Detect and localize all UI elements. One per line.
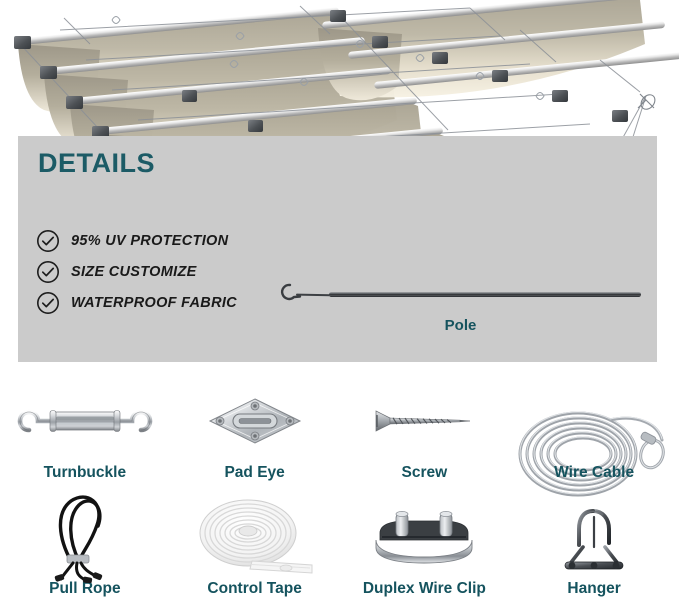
cable-tensioner xyxy=(638,92,658,112)
pole-icon xyxy=(273,276,648,310)
part-label: Wire Cable xyxy=(554,459,634,481)
pole-label: Pole xyxy=(273,317,648,334)
part-label: Screw xyxy=(402,459,448,481)
feature-item-waterproof-fabric: WATERPROOF FABRIC xyxy=(36,291,237,315)
pull-rope-icon xyxy=(0,499,170,575)
check-circle-icon xyxy=(36,260,60,284)
part-item-pull-rope: Pull Rope xyxy=(0,484,170,596)
infographic-page: DETAILS 95% UV PROTECTION SIZE CUSTOMIZE xyxy=(0,0,679,611)
part-item-pad-eye: Pad Eye xyxy=(170,368,340,480)
parts-row-bottom: Pull Rope xyxy=(0,484,679,596)
check-circle-icon xyxy=(36,291,60,315)
feature-label: SIZE CUSTOMIZE xyxy=(71,264,197,280)
part-label: Pad Eye xyxy=(224,459,284,481)
page-title: DETAILS xyxy=(38,148,155,179)
parts-row-top: Turnbuckle xyxy=(0,368,679,480)
screw-icon xyxy=(340,383,510,459)
part-label: Turnbuckle xyxy=(44,459,126,481)
turnbuckle-icon xyxy=(0,383,170,459)
details-panel: DETAILS 95% UV PROTECTION SIZE CUSTOMIZE xyxy=(18,136,657,362)
part-item-turnbuckle: Turnbuckle xyxy=(0,368,170,480)
pad-eye-icon xyxy=(170,383,340,459)
parts-grid: Turnbuckle xyxy=(0,368,679,611)
feature-item-uv-protection: 95% UV PROTECTION xyxy=(36,229,228,253)
control-tape-roll-icon xyxy=(170,499,340,575)
wire-cable-coil-icon xyxy=(509,407,679,497)
part-label: Duplex Wire Clip xyxy=(363,575,486,597)
part-item-hanger: Hanger xyxy=(509,484,679,596)
check-circle-icon xyxy=(36,229,60,253)
duplex-wire-clip-icon xyxy=(340,499,510,575)
part-item-screw: Screw xyxy=(340,368,510,480)
hanger-icon xyxy=(509,499,679,575)
feature-label: WATERPROOF FABRIC xyxy=(71,295,237,311)
part-item-control-tape: Control Tape xyxy=(170,484,340,596)
feature-item-size-customize: SIZE CUSTOMIZE xyxy=(36,260,197,284)
part-item-wire-cable: Wire Cable xyxy=(509,368,679,480)
feature-label: 95% UV PROTECTION xyxy=(71,233,228,249)
part-item-duplex-wire-clip: Duplex Wire Clip xyxy=(340,484,510,596)
